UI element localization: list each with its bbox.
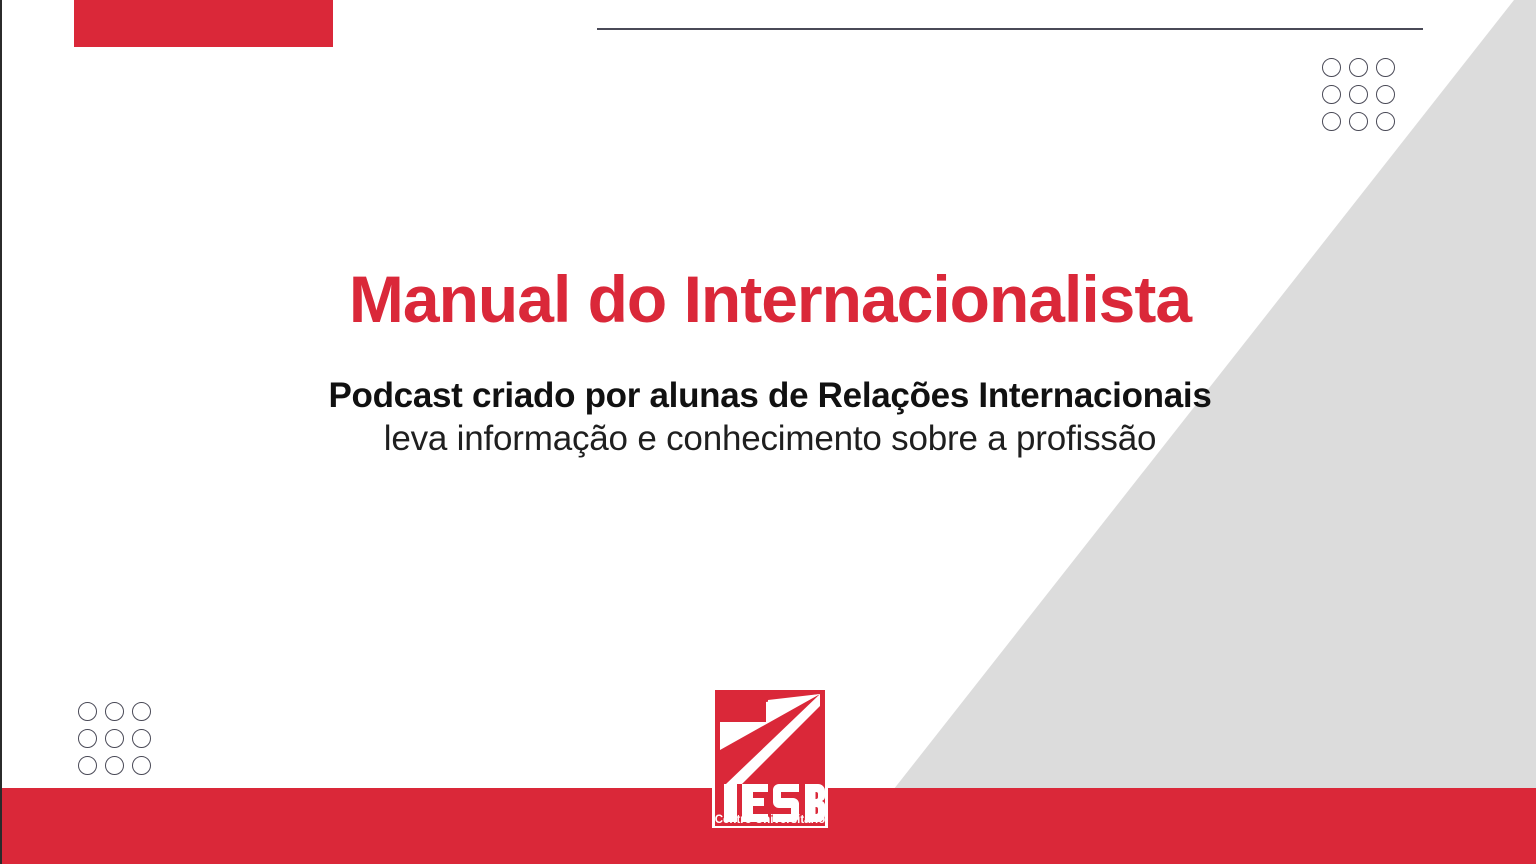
circle-icon	[1376, 85, 1395, 104]
slide-canvas: Manual do Internacionalista Podcast cria…	[0, 0, 1536, 864]
circle-icon	[1349, 112, 1368, 131]
circle-icon	[1349, 58, 1368, 77]
circle-icon	[132, 702, 151, 721]
circle-icon	[1322, 85, 1341, 104]
circle-icon	[132, 756, 151, 775]
circle-icon	[78, 729, 97, 748]
circle-icon	[105, 756, 124, 775]
circle-icon	[1376, 112, 1395, 131]
circle-icon	[132, 729, 151, 748]
dot-grid-top-right-icon	[1322, 58, 1395, 131]
subtitle-block: Podcast criado por alunas de Relações In…	[2, 375, 1536, 461]
subtitle-primary: Podcast criado por alunas de Relações In…	[2, 375, 1536, 417]
page-title: Manual do Internacionalista	[2, 264, 1536, 335]
circle-icon	[1376, 58, 1395, 77]
circle-icon	[1322, 58, 1341, 77]
dot-grid-bottom-left-icon	[78, 702, 151, 775]
subtitle-secondary: leva informação e conhecimento sobre a p…	[2, 417, 1536, 461]
circle-icon	[105, 729, 124, 748]
circle-icon	[1349, 85, 1368, 104]
circle-icon	[78, 756, 97, 775]
circle-icon	[105, 702, 124, 721]
circle-icon	[78, 702, 97, 721]
top-horizontal-rule	[597, 28, 1423, 30]
logo-tagline-text: Centro Universitário	[715, 814, 826, 826]
iesb-logo: Centro Universitário IESB Centro Univers…	[712, 688, 828, 828]
title-block: Manual do Internacionalista Podcast cria…	[2, 264, 1536, 461]
top-red-bar	[74, 0, 333, 47]
circle-icon	[1322, 112, 1341, 131]
